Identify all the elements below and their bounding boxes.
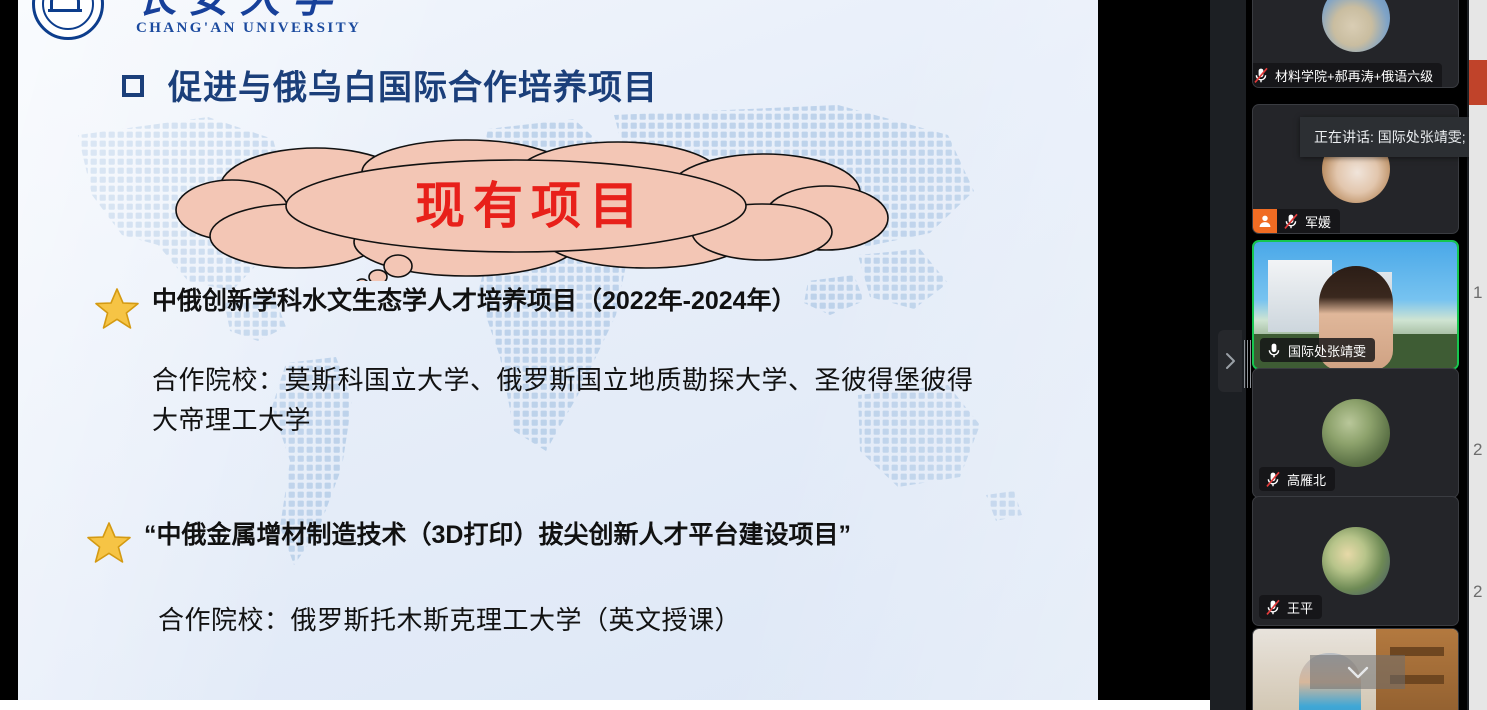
slide-item-2-detail: 合作院校：俄罗斯托木斯克理工大学（英文授课） bbox=[158, 600, 1018, 640]
participant-name: 高雁北 bbox=[1287, 470, 1326, 489]
star-icon bbox=[86, 520, 132, 566]
slide-title-text: 促进与俄乌白国际合作培养项目 bbox=[168, 69, 658, 107]
mic-muted-icon bbox=[1253, 67, 1269, 84]
thought-cloud-callout: 现有项目 bbox=[166, 136, 896, 281]
participant-tile[interactable]: 王平 bbox=[1252, 496, 1459, 626]
right-edge-number: 1 bbox=[1473, 283, 1482, 303]
participant-nameplate: 高雁北 bbox=[1259, 467, 1335, 491]
participant-nameplate: 王平 bbox=[1259, 595, 1322, 619]
right-edge-accent-tab bbox=[1469, 60, 1487, 105]
avatar bbox=[1322, 399, 1390, 467]
participant-name: 王平 bbox=[1287, 598, 1313, 617]
collapse-gallery-button[interactable] bbox=[1218, 330, 1242, 392]
participant-tile[interactable]: 材料学院+郝再涛+俄语六级 bbox=[1252, 0, 1459, 88]
slide-item-1-detail: 合作院校：莫斯科国立大学、俄罗斯国立地质勘探大学、圣彼得堡彼得大帝理工大学 bbox=[152, 360, 992, 441]
university-logo-icon bbox=[32, 0, 104, 40]
slide-item-1: 中俄创新学科水文生态学人才培养项目（2022年-2024年） bbox=[94, 286, 797, 332]
slide-branding-header: 长安大学 CHANG'AN UNIVERSITY bbox=[18, 0, 1098, 48]
participant-nameplate: 材料学院+郝再涛+俄语六级 bbox=[1253, 63, 1442, 87]
participant-nameplate: 国际处张靖雯 bbox=[1260, 338, 1375, 362]
mic-unmuted-icon bbox=[1266, 342, 1282, 359]
right-edge-number: 2 bbox=[1473, 582, 1482, 602]
screen-share-meeting-view: 长安大学 CHANG'AN UNIVERSITY 促进与俄乌白国际合作培养项目 bbox=[0, 0, 1487, 710]
right-edge-number: 2 bbox=[1473, 440, 1482, 460]
slide-item-2: “中俄金属增材制造技术（3D打印）拔尖创新人才平台建设项目” bbox=[86, 520, 851, 566]
participant-gallery[interactable]: 材料学院+郝再涛+俄语六级 bbox=[1246, 0, 1467, 710]
mic-muted-icon bbox=[1265, 471, 1281, 488]
star-icon bbox=[94, 286, 140, 332]
chevron-right-icon bbox=[1224, 352, 1237, 370]
participant-tile-active-speaker[interactable]: 国际处张靖雯 bbox=[1252, 240, 1459, 370]
speaking-tooltip: 正在讲话: 国际处张靖雯; bbox=[1300, 117, 1480, 157]
university-name-en: CHANG'AN UNIVERSITY bbox=[136, 20, 361, 37]
slide-item-1-heading: 中俄创新学科水文生态学人才培养项目（2022年-2024年） bbox=[152, 286, 797, 317]
shared-screen-area[interactable]: 长安大学 CHANG'AN UNIVERSITY 促进与俄乌白国际合作培养项目 bbox=[0, 0, 1210, 710]
avatar bbox=[1322, 0, 1390, 52]
slide-bottom-edge bbox=[0, 700, 1210, 710]
presentation-slide: 长安大学 CHANG'AN UNIVERSITY 促进与俄乌白国际合作培养项目 bbox=[18, 0, 1098, 700]
square-bullet-icon bbox=[122, 75, 144, 97]
participant-nameplate: 军媛 bbox=[1253, 209, 1340, 233]
participant-tile[interactable]: 高雁北 bbox=[1252, 368, 1459, 498]
show-more-participants-button[interactable] bbox=[1310, 655, 1405, 689]
participant-name: 军媛 bbox=[1305, 212, 1331, 231]
slide-item-2-heading: “中俄金属增材制造技术（3D打印）拔尖创新人才平台建设项目” bbox=[144, 520, 851, 551]
avatar bbox=[1322, 527, 1390, 595]
mic-muted-icon bbox=[1283, 213, 1299, 230]
mic-muted-icon bbox=[1265, 599, 1281, 616]
participant-name: 材料学院+郝再涛+俄语六级 bbox=[1275, 66, 1433, 85]
host-badge-icon bbox=[1253, 209, 1277, 233]
chevron-down-icon bbox=[1347, 666, 1369, 679]
slide-title: 促进与俄乌白国际合作培养项目 bbox=[122, 60, 658, 109]
right-edge-panel[interactable]: 1 2 2 bbox=[1469, 0, 1487, 710]
cloud-label: 现有项目 bbox=[166, 166, 896, 238]
gallery-resize-handle[interactable] bbox=[1243, 340, 1251, 388]
participant-name: 国际处张靖雯 bbox=[1288, 341, 1366, 360]
